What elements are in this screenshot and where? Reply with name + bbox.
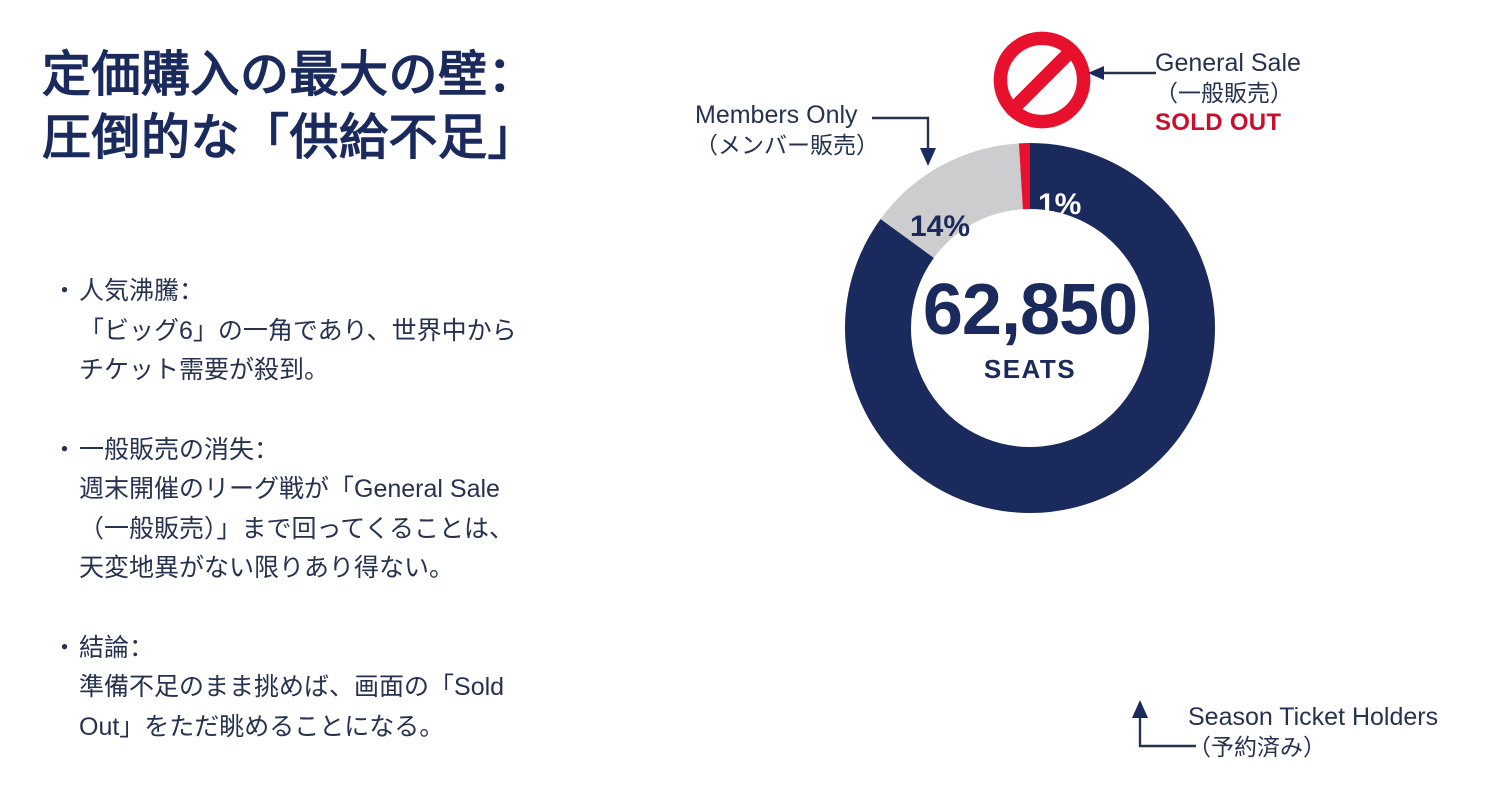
arrow-season-tickets-icon — [1118, 700, 1198, 758]
callout-general-sale-en: General Sale — [1155, 48, 1301, 79]
no-entry-icon — [990, 28, 1094, 132]
left-content-column: 定価購入の最大の壁： 圧倒的な「供給不足」 — [42, 44, 642, 169]
slide-canvas: 定価購入の最大の壁： 圧倒的な「供給不足」 ・ 人気沸騰： 「ビッグ6」の一角で… — [0, 0, 1500, 806]
bullet-text: 準備不足のまま挑めば、画面の「Sold Out」をただ眺めることになる。 — [79, 668, 612, 747]
bullet-list: ・ 人気沸騰： 「ビッグ6」の一角であり、世界中から チケット需要が殺到。 ・ … — [52, 272, 612, 747]
callout-season-tickets-en: Season Ticket Holders — [1188, 702, 1438, 733]
bullet-heading: 結論： — [79, 629, 612, 669]
callout-season-tickets-jp: （予約済み） — [1188, 733, 1438, 762]
bullet-item-conclusion: ・ 結論： 準備不足のまま挑めば、画面の「Sold Out」をただ眺めることにな… — [52, 629, 612, 748]
bullet-item-popularity: ・ 人気沸騰： 「ビッグ6」の一角であり、世界中から チケット需要が殺到。 — [52, 272, 612, 391]
donut-chart-svg — [840, 138, 1220, 518]
callout-season-tickets: Season Ticket Holders （予約済み） — [1188, 702, 1438, 762]
bullet-text: 「ビッグ6」の一角であり、世界中から チケット需要が殺到。 — [79, 312, 612, 391]
bullet-body: 一般販売の消失： 週末開催のリーグ戦が「General Sale （一般販売）」… — [79, 431, 612, 589]
callout-general-sale: General Sale （一般販売） SOLD OUT — [1155, 48, 1301, 138]
bullet-marker-icon: ・ — [52, 629, 77, 669]
donut-chart: 62,850 SEATS — [840, 138, 1220, 518]
page-title: 定価購入の最大の壁： 圧倒的な「供給不足」 — [42, 44, 642, 169]
percent-label-season-tickets: 85% — [1100, 623, 1160, 653]
bullet-heading: 一般販売の消失： — [79, 431, 612, 471]
donut-chart-area: 62,850 SEATS 1% 14% 85% General Sale （一般… — [640, 0, 1500, 806]
bullet-item-general-sale: ・ 一般販売の消失： 週末開催のリーグ戦が「General Sale （一般販売… — [52, 431, 612, 589]
percent-label-general-sale: 1% — [1038, 190, 1081, 220]
bullet-marker-icon: ・ — [52, 431, 77, 471]
callout-general-sale-jp: （一般販売） — [1155, 79, 1301, 108]
status-badge-sold-out: SOLD OUT — [1155, 108, 1301, 138]
bullet-marker-icon: ・ — [52, 272, 77, 312]
callout-members-only-en: Members Only — [695, 100, 879, 131]
bullet-heading: 人気沸騰： — [79, 272, 612, 312]
bullet-text: 週末開催のリーグ戦が「General Sale （一般販売）」まで回ってくること… — [79, 470, 612, 589]
bullet-body: 結論： 準備不足のまま挑めば、画面の「Sold Out」をただ眺めることになる。 — [79, 629, 612, 748]
bullet-body: 人気沸騰： 「ビッグ6」の一角であり、世界中から チケット需要が殺到。 — [79, 272, 612, 391]
callout-members-only: Members Only （メンバー販売） — [695, 100, 879, 160]
percent-label-members-only: 14% — [910, 212, 970, 242]
arrow-general-sale-icon — [1088, 62, 1158, 84]
callout-members-only-jp: （メンバー販売） — [695, 131, 879, 160]
